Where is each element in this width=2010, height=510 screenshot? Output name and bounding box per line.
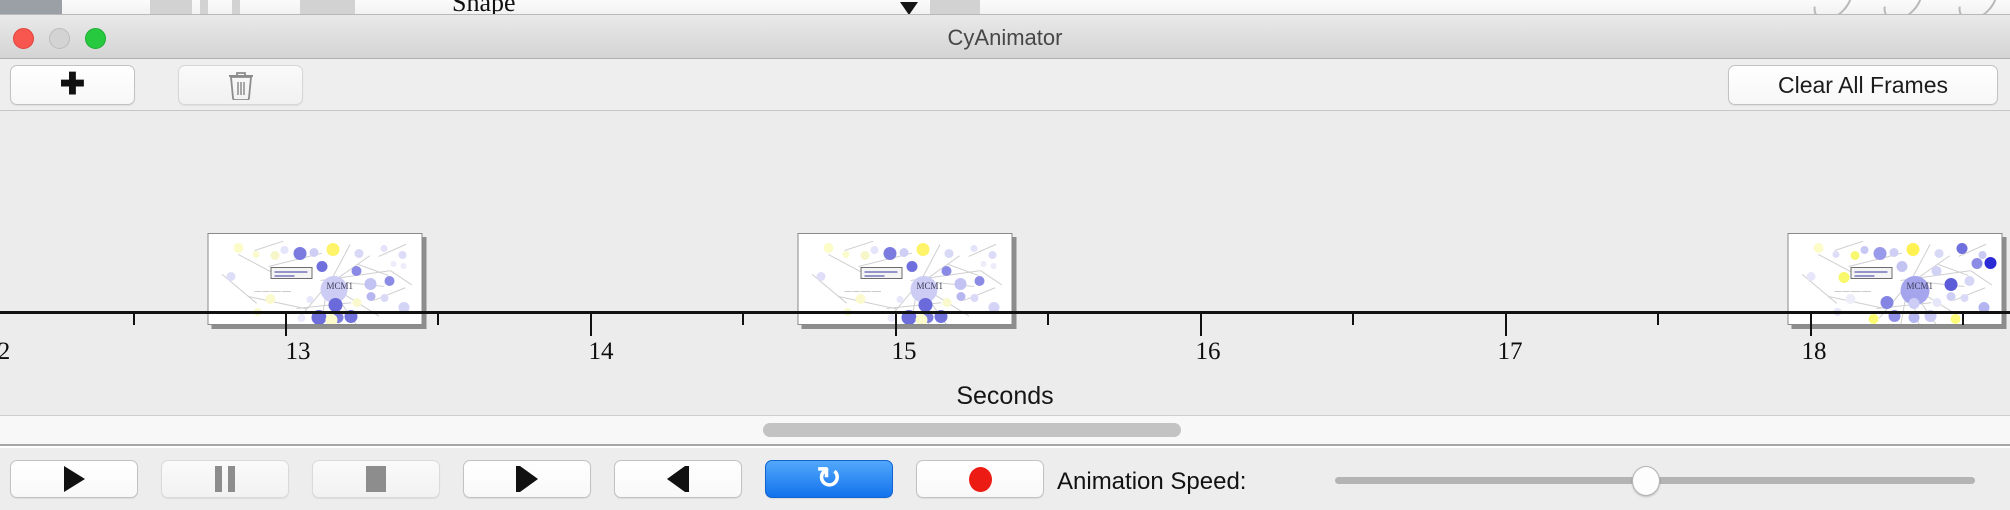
bg-chip — [150, 0, 192, 15]
axis-tick-major — [895, 314, 897, 336]
record-button[interactable] — [916, 460, 1044, 498]
axis-tick-minor — [437, 314, 439, 325]
axis-title: Seconds — [0, 382, 2010, 411]
axis-tick-label: 13 — [286, 338, 311, 366]
axis-tick-major — [590, 314, 592, 336]
node-tooltip — [1851, 267, 1893, 279]
add-frame-button[interactable]: ✚ — [10, 65, 135, 105]
axis-tick-label: 18 — [1802, 338, 1827, 366]
axis-tick-minor — [133, 314, 135, 325]
bg-cursor-arrow-icon — [900, 2, 918, 15]
play-button[interactable] — [10, 460, 138, 498]
axis-tick-minor — [1047, 314, 1049, 325]
axis-tick-major — [1505, 314, 1507, 336]
bg-chip — [300, 0, 355, 15]
bg-curve — [1876, 0, 1930, 15]
skip-end-button[interactable] — [614, 460, 742, 498]
node-tooltip — [861, 267, 903, 279]
window-titlebar: CyAnimator — [0, 15, 2010, 59]
trash-icon — [228, 70, 254, 100]
pause-button[interactable] — [161, 460, 289, 498]
timeline-panel[interactable]: MCM1 ____ ____ ______ _____ — [0, 111, 2010, 416]
plus-icon: ✚ — [60, 70, 85, 100]
timeline-axis-line — [0, 311, 2010, 314]
timeline-scrollbar-track[interactable] — [0, 416, 2010, 446]
axis-tick-minor — [742, 314, 744, 325]
play-icon — [64, 466, 85, 492]
playback-control-bar: ↻ Animation Speed: — [0, 448, 2010, 510]
skip-forward-icon — [667, 466, 689, 492]
loop-icon: ↻ — [816, 464, 841, 494]
stop-icon — [366, 466, 386, 492]
bg-curve — [1806, 0, 1860, 15]
clear-all-frames-button[interactable]: Clear All Frames — [1728, 65, 1998, 105]
axis-tick-major — [1200, 314, 1202, 336]
animation-speed-slider-knob[interactable] — [1632, 466, 1660, 496]
record-icon — [969, 467, 992, 492]
pause-icon — [215, 466, 235, 492]
bg-curve — [1951, 0, 2005, 15]
bg-chip — [200, 0, 208, 15]
timeline-scrollbar-thumb[interactable] — [763, 423, 1181, 437]
bg-shape-label: Shape — [452, 0, 516, 15]
bg-chip — [0, 0, 62, 15]
background-window-strip: Shape — [0, 0, 2010, 15]
delete-frame-button[interactable] — [178, 65, 303, 105]
frame-toolbar: ✚ Clear All Frames — [0, 59, 2010, 111]
animation-speed-label: Animation Speed: — [1057, 468, 1246, 496]
axis-tick-minor — [1352, 314, 1354, 325]
bg-chip — [232, 0, 240, 15]
axis-tick-minor — [1657, 314, 1659, 325]
axis-tick-label: 16 — [1196, 338, 1221, 366]
window-title: CyAnimator — [0, 25, 2010, 51]
skip-back-icon — [516, 466, 538, 492]
stop-button[interactable] — [312, 460, 440, 498]
axis-tick-major — [1810, 314, 1812, 336]
axis-tick-minor — [1962, 314, 1964, 325]
axis-tick-major — [285, 314, 287, 336]
axis-tick-label: 15 — [892, 338, 917, 366]
bg-chip — [930, 0, 980, 15]
axis-tick-label: 17 — [1498, 338, 1523, 366]
axis-tick-label: 14 — [589, 338, 614, 366]
axis-tick-label: 2 — [0, 338, 10, 366]
loop-button[interactable]: ↻ — [765, 460, 893, 498]
skip-start-button[interactable] — [463, 460, 591, 498]
node-tooltip — [271, 267, 313, 279]
